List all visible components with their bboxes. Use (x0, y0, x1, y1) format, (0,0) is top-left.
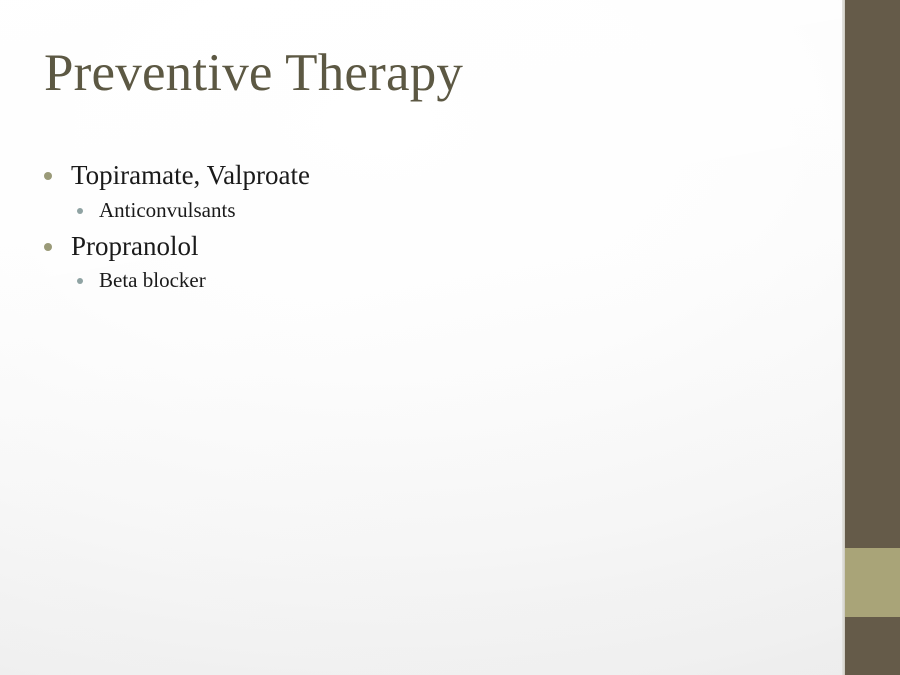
dot-bullet-icon (77, 208, 83, 214)
sidebar-band-accent (845, 548, 900, 617)
slide-title: Preventive Therapy (44, 44, 804, 103)
list-item: Anticonvulsants (77, 196, 814, 225)
decorative-sidebar (845, 0, 900, 675)
list-item-label: Topiramate, Valproate (71, 158, 310, 194)
list-item-label: Propranolol (71, 229, 199, 265)
list-item-label: Beta blocker (99, 266, 206, 295)
slide: Preventive Therapy Topiramate, Valproate… (0, 0, 900, 675)
list-item-label: Anticonvulsants (99, 196, 236, 225)
dot-bullet-icon (44, 172, 52, 180)
dot-bullet-icon (44, 243, 52, 251)
list-item: Topiramate, Valproate (44, 158, 814, 194)
slide-body: Topiramate, Valproate Anticonvulsants Pr… (44, 158, 814, 299)
sidebar-band-top (845, 0, 900, 548)
dot-bullet-icon (77, 278, 83, 284)
list-item: Beta blocker (77, 266, 814, 295)
list-item: Propranolol (44, 229, 814, 265)
sidebar-band-bottom (845, 617, 900, 675)
